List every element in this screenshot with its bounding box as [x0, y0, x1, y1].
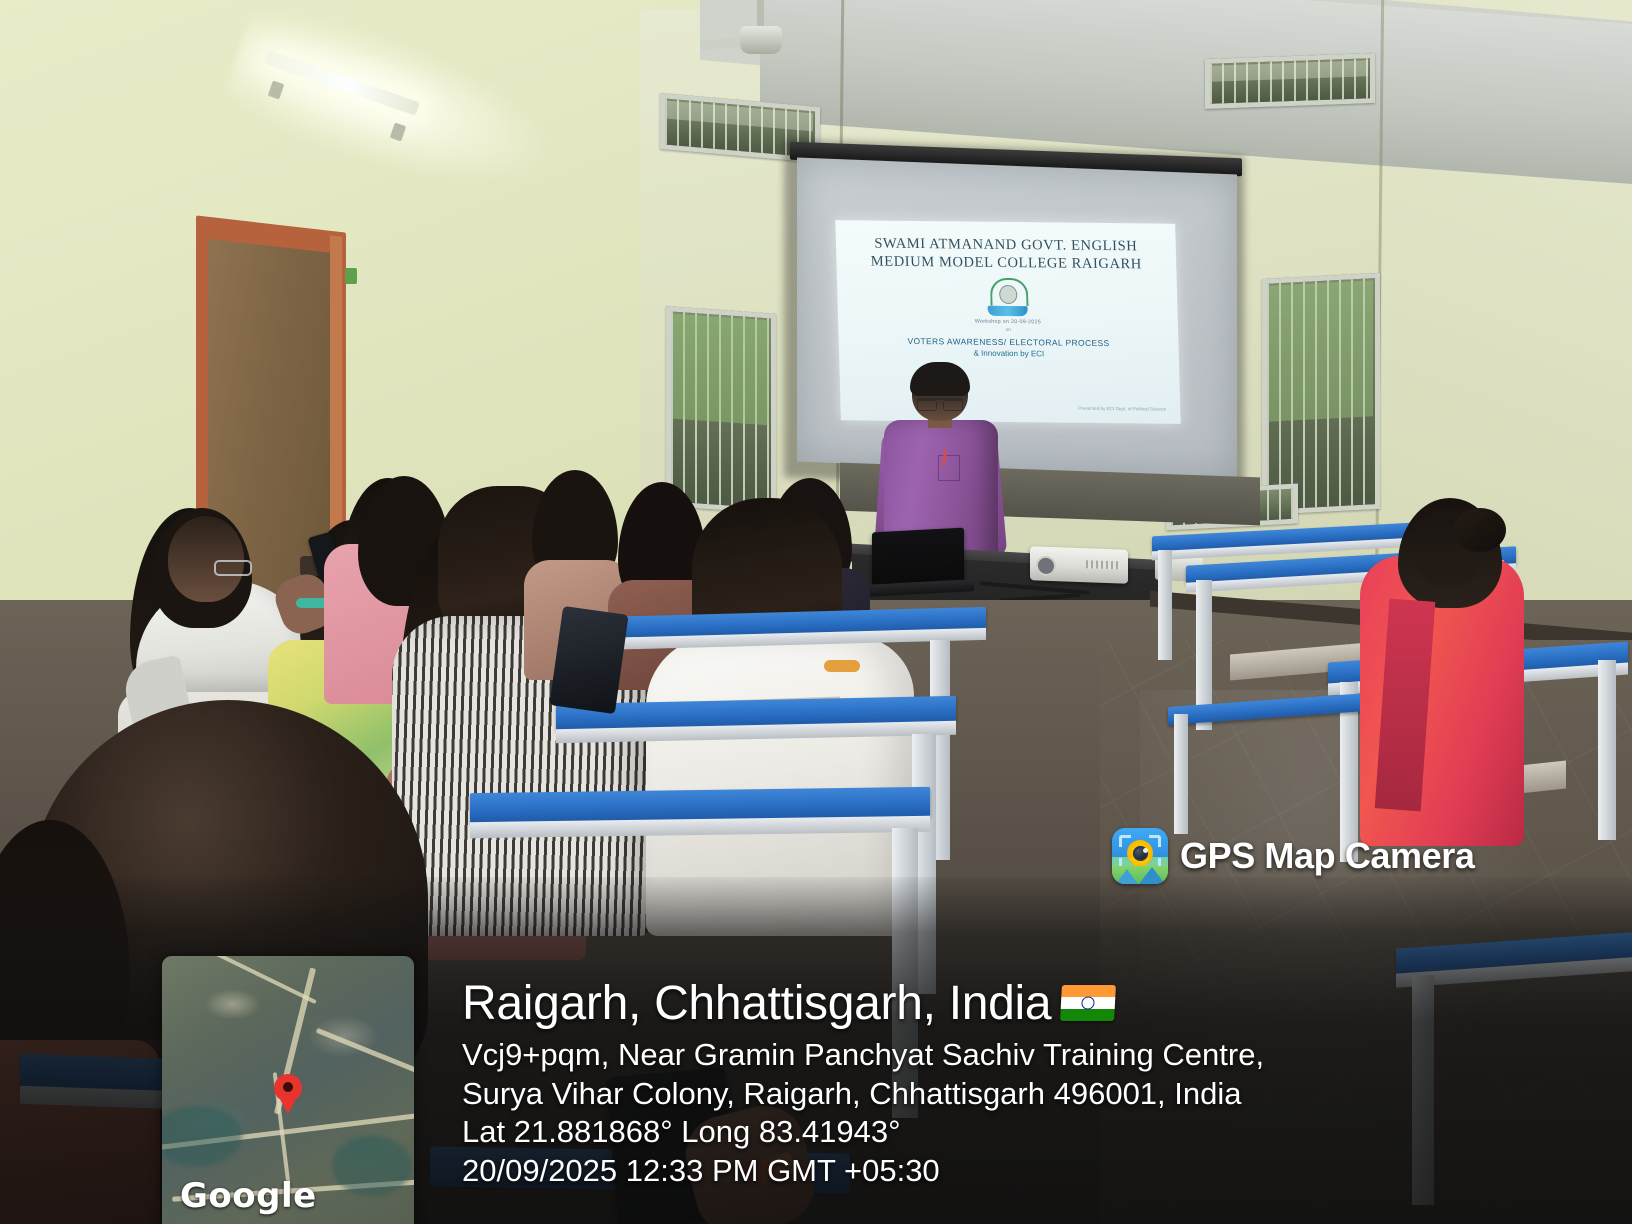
- location-title-row: Raigarh, Chhattisgarh, India: [462, 977, 1562, 1031]
- projector: [1030, 546, 1128, 583]
- slide-separator: on: [838, 326, 1178, 336]
- projector-vent: [1086, 560, 1120, 569]
- ceiling-fan-motor: [740, 26, 782, 54]
- window-right-large: [1262, 273, 1380, 515]
- slide-institution-line2: MEDIUM MODEL COLLEGE RAIGARH: [836, 253, 1176, 274]
- presenter-glasses: [916, 398, 964, 410]
- tablet-device: [549, 606, 628, 714]
- map-thumbnail[interactable]: Google: [162, 956, 414, 1224]
- timestamp-line: 20/09/2025 12:33 PM GMT +05:30: [462, 1152, 1562, 1190]
- projector-lens: [1036, 555, 1056, 576]
- student-right-pink-bun: [1454, 508, 1506, 552]
- map-vegetation-2: [332, 1136, 412, 1196]
- gps-map-camera-label: GPS Map Camera: [1180, 835, 1475, 877]
- gps-map-camera-icon: [1112, 828, 1168, 884]
- slide-topic-line1: VOTERS AWARENESS/ ELECTORAL PROCESS: [838, 336, 1178, 350]
- presenter-hair: [910, 362, 970, 396]
- india-flag-icon: [1060, 985, 1116, 1021]
- slide-presented-by: Presented by ECI Dept. of Political Scie…: [1078, 406, 1166, 414]
- map-location-pin-icon: [274, 1074, 302, 1102]
- college-logo-icon: [986, 278, 1029, 316]
- presentation-slide: SWAMI ATMANAND GOVT. ENGLISH MEDIUM MODE…: [835, 220, 1180, 424]
- address-line-1: Vcj9+pqm, Near Gramin Panchyat Sachiv Tr…: [462, 1036, 1562, 1074]
- window-upper-right: [1205, 53, 1375, 109]
- gps-map-camera-photo: SWAMI ATMANAND GOVT. ENGLISH MEDIUM MODE…: [0, 0, 1632, 1224]
- window-left-large: [666, 306, 776, 514]
- address-line-2: Surya Vihar Colony, Raigarh, Chhattisgar…: [462, 1075, 1562, 1113]
- google-logo: Google: [180, 1176, 317, 1216]
- gps-info-block: Raigarh, Chhattisgarh, India Vcj9+pqm, N…: [462, 977, 1562, 1191]
- gps-map-camera-brand: GPS Map Camera: [1112, 828, 1475, 884]
- slide-topic-line2: & Innovation by ECI: [839, 348, 1179, 361]
- coordinates-line: Lat 21.881868° Long 83.41943°: [462, 1113, 1562, 1151]
- presenter-pocket: [938, 455, 960, 481]
- door-marker: [345, 268, 357, 284]
- location-title: Raigarh, Chhattisgarh, India: [462, 977, 1051, 1031]
